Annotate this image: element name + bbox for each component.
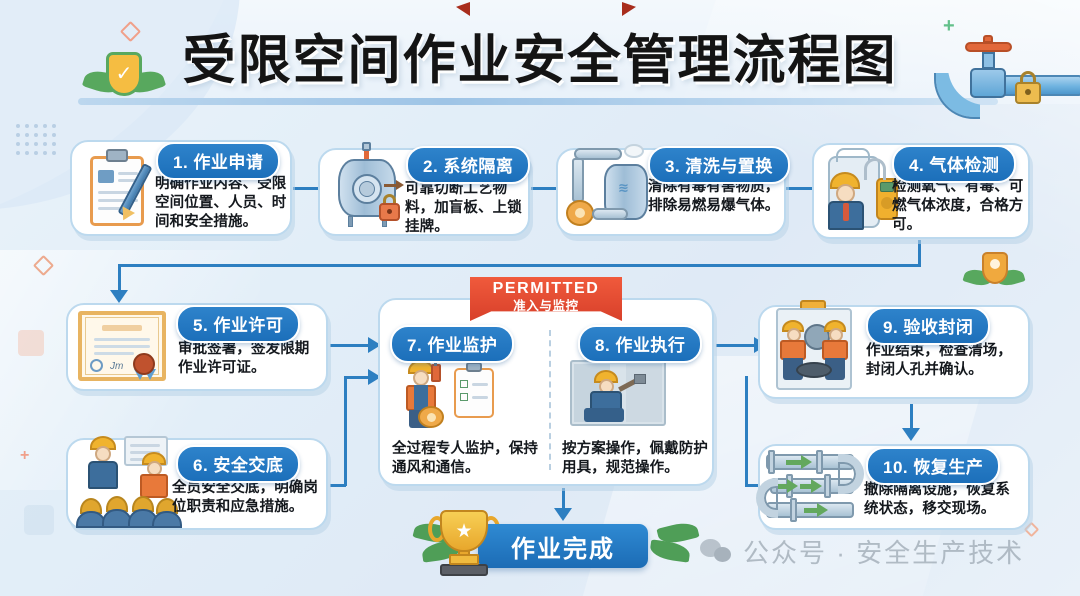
step-desc-6: 全员安全交底，明确岗位职责和应急措施。 <box>172 479 324 517</box>
star-icon: ★ <box>455 522 472 541</box>
panel-divider <box>549 330 551 470</box>
padlock-keyhole <box>387 209 392 214</box>
worker-vest <box>780 340 806 360</box>
ribbon-cn-label: 准入与监控 <box>470 297 622 313</box>
step-desc-8: 按方案操作，佩戴防护用具，规范操作。 <box>562 440 710 478</box>
pipes-flow-icon <box>766 450 870 524</box>
paper-line <box>472 383 488 386</box>
pipe-left-vertical <box>572 158 584 202</box>
worker-vest <box>822 340 848 360</box>
shield-body: ✓ <box>106 52 142 96</box>
trophy-plate <box>449 554 479 565</box>
certificate-icon: Jm <box>78 311 170 385</box>
flow-arrow-head <box>811 479 822 493</box>
tank-stem <box>364 151 369 159</box>
step-desc-7: 全过程专人监护，保持通风和通信。 <box>392 440 540 478</box>
pipe-flange <box>790 498 797 522</box>
step-pill-6[interactable]: 6. 安全交底 <box>176 445 300 483</box>
step-desc-1: 明确作业内容、受限空间位置、人员、时间和安全措施。 <box>155 175 287 232</box>
checkbox-icon <box>460 380 468 388</box>
header-underline <box>78 98 998 105</box>
step-pill-9[interactable]: 9. 验收封闭 <box>866 307 990 345</box>
presenter-head <box>95 446 111 462</box>
blower-hub <box>427 413 436 422</box>
ribbon-en-label: PERMITTED <box>470 277 622 297</box>
tool-head <box>634 374 646 384</box>
worker-tie <box>843 203 849 221</box>
flow-arrow-head <box>817 503 828 517</box>
step-pill-1[interactable]: 1. 作业申请 <box>156 142 280 180</box>
step-desc-4: 检测氧气、有毒、可燃气体浓度，合格方可。 <box>892 178 1024 235</box>
pipe-flange <box>824 474 831 498</box>
briefing-icon <box>74 432 184 530</box>
clipboard-pen-icon <box>82 146 160 230</box>
flange-inner <box>359 181 375 197</box>
vessel-neck <box>836 148 870 162</box>
wechat-icon <box>700 539 732 565</box>
step-pill-2[interactable]: 2. 系统隔离 <box>406 146 530 184</box>
person-glyph <box>990 259 1000 269</box>
radio-icon <box>431 364 441 382</box>
outlet-arrow-head <box>396 180 404 190</box>
pipe-flange <box>768 450 775 474</box>
flow-arrow-head <box>801 455 812 469</box>
audience-group <box>78 488 180 528</box>
step-desc-10: 撤除隔离设施，恢复系统状态，移交现场。 <box>864 481 1020 519</box>
square-accent-icon <box>18 330 44 356</box>
ribbon-fold-right <box>622 2 636 16</box>
shield-person-leaves-icon <box>968 250 1024 294</box>
tank-lock-icon <box>326 142 410 232</box>
dot-grid-icon <box>16 124 61 160</box>
diamond-outline-icon <box>1024 522 1040 538</box>
steam-puff <box>624 144 644 158</box>
manhole-opening <box>796 362 832 378</box>
pipe-bend-right <box>838 454 864 494</box>
worker-executing-icon <box>570 360 670 428</box>
manhole-closing-icon <box>766 300 866 396</box>
heat-waves-glyph: ≋ <box>618 180 630 196</box>
flow-arrow-tail <box>786 460 802 465</box>
flow-arrow-tail <box>804 508 818 513</box>
cert-title-line <box>102 325 142 331</box>
tank-leg <box>348 216 353 227</box>
square-accent-icon <box>24 505 54 535</box>
step-desc-2: 可靠切断工艺物料，加盲板、上锁挂牌。 <box>405 180 527 237</box>
detector-cable <box>864 158 886 180</box>
paper-line <box>472 396 488 399</box>
purge-tank-icon: ≋ <box>562 142 662 234</box>
plus-mark-icon: + <box>20 448 29 464</box>
watermark-text: 公众号 · 安全生产技术 <box>743 533 1024 570</box>
laurel-leaf <box>649 539 691 562</box>
pipe-flange <box>816 450 823 474</box>
board-line <box>130 444 160 447</box>
diamond-outline-icon <box>33 255 54 276</box>
tank-nozzle <box>362 142 371 151</box>
ribbon-fold-left <box>456 2 470 16</box>
wall-panel <box>626 364 662 422</box>
checkbox-icon <box>460 393 468 401</box>
cert-line <box>94 345 150 348</box>
paper-line <box>118 172 138 175</box>
step-pill-3[interactable]: 3. 清洗与置换 <box>648 146 790 184</box>
cert-line <box>94 338 150 341</box>
pipe-outlet <box>592 208 628 220</box>
finish-banner: 作业完成 <box>478 524 648 568</box>
step-pill-10[interactable]: 10. 恢复生产 <box>866 447 1000 485</box>
cert-line <box>94 352 134 355</box>
step-pill-5[interactable]: 5. 作业许可 <box>176 305 300 343</box>
step-desc-9: 作业结束，检查清场，封闭人孔并确认。 <box>866 342 1018 380</box>
paper-block <box>98 170 114 183</box>
cert-stamp <box>90 359 103 372</box>
supervisor-icon <box>398 360 534 428</box>
presenter-body <box>88 461 118 489</box>
step-pill-7[interactable]: 7. 作业监护 <box>390 325 514 363</box>
watermark: 公众号 · 安全生产技术 <box>700 533 1024 570</box>
cert-seal <box>133 353 155 375</box>
step-pill-8[interactable]: 8. 作业执行 <box>578 325 702 363</box>
worker-legs <box>584 408 624 422</box>
cert-signature: Jm <box>110 361 123 372</box>
flow-arrow-head <box>787 479 798 493</box>
step-pill-4[interactable]: 4. 气体检测 <box>892 145 1016 183</box>
clipboard-clip <box>466 362 482 372</box>
blower-hub <box>575 208 585 218</box>
step-desc-5: 审批签署，签发限期作业许可证。 <box>178 340 322 378</box>
page-title: 受限空间作业安全管理流程图 <box>183 18 898 94</box>
trophy-base <box>440 564 488 576</box>
clipboard-clip <box>106 149 128 162</box>
check-icon: ✓ <box>116 64 133 84</box>
supervisor-head <box>413 370 429 386</box>
shield-check-leaves-icon: ✓ <box>86 46 164 104</box>
